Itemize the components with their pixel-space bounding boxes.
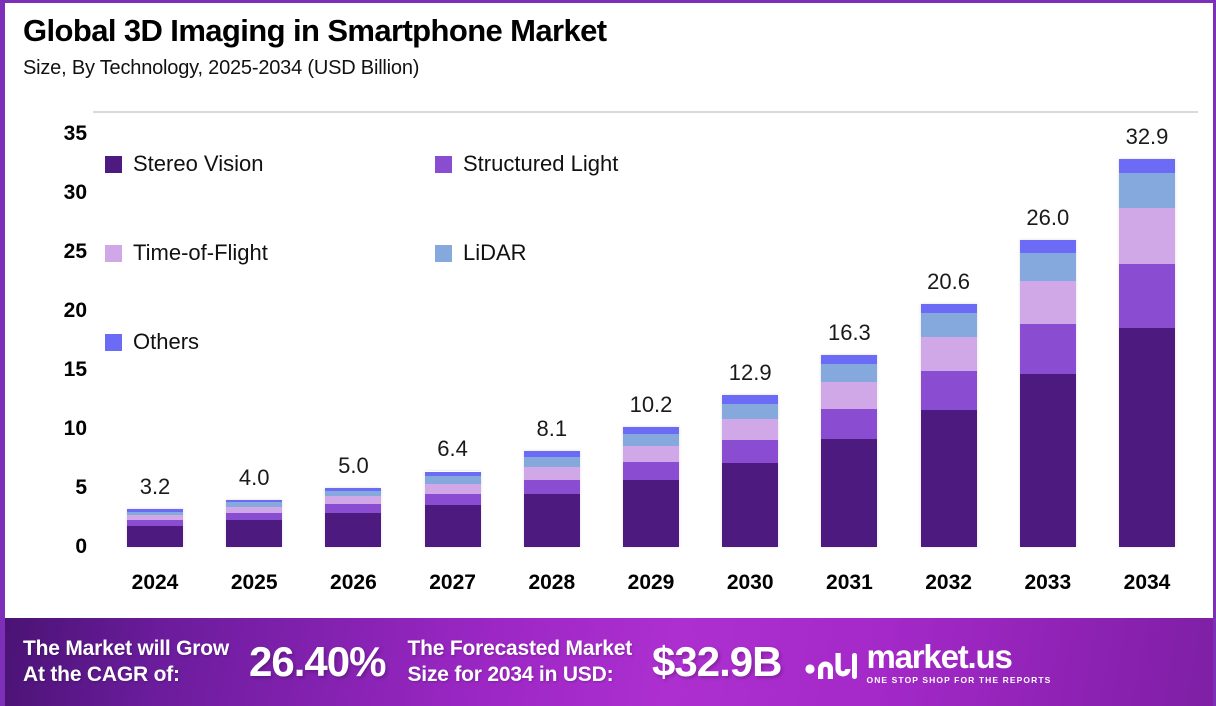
legend-label: LiDAR — [463, 240, 527, 266]
bar-segment-lidar[interactable] — [623, 434, 679, 446]
stacked-bar[interactable] — [1119, 159, 1175, 547]
infographic-page: Global 3D Imaging in Smartphone Market S… — [0, 0, 1216, 706]
bar-segment-structured-light[interactable] — [921, 371, 977, 410]
bar-segment-others[interactable] — [821, 355, 877, 364]
legend-label: Time-of-Flight — [133, 240, 268, 266]
chart-legend: Stereo VisionStructured LightTime-of-Fli… — [105, 151, 705, 418]
bar-segment-time-of-flight[interactable] — [1119, 208, 1175, 263]
legend-swatch-icon — [105, 156, 122, 173]
bar-segment-lidar[interactable] — [821, 364, 877, 383]
legend-swatch-icon — [435, 245, 452, 262]
bar-segment-time-of-flight[interactable] — [325, 496, 381, 504]
bar-total-label: 8.1 — [492, 416, 612, 442]
cagr-caption-line2: At the CAGR of: — [23, 662, 229, 688]
market-us-logo-icon — [805, 643, 857, 681]
bar-segment-others[interactable] — [921, 304, 977, 313]
bar-segment-stereo-vision[interactable] — [524, 494, 580, 547]
legend-swatch-icon — [105, 334, 122, 351]
chart-subtitle: Size, By Technology, 2025-2034 (USD Bill… — [23, 57, 1123, 80]
stacked-bar[interactable] — [226, 500, 282, 547]
footer-banner: The Market will Grow At the CAGR of: 26.… — [5, 618, 1216, 706]
bar-segment-structured-light[interactable] — [1020, 324, 1076, 374]
bar-segment-lidar[interactable] — [722, 404, 778, 419]
legend-label: Stereo Vision — [133, 151, 263, 177]
legend-label: Structured Light — [463, 151, 618, 177]
chart-header: Global 3D Imaging in Smartphone Market S… — [23, 13, 1123, 80]
forecast-caption: The Forecasted Market Size for 2034 in U… — [408, 636, 633, 688]
bar-segment-others[interactable] — [623, 427, 679, 434]
bar-segment-stereo-vision[interactable] — [127, 526, 183, 547]
bar-segment-structured-light[interactable] — [1119, 264, 1175, 328]
bar-segment-stereo-vision[interactable] — [226, 520, 282, 547]
legend-label: Others — [133, 329, 199, 355]
stacked-bar[interactable] — [1020, 240, 1076, 547]
bar-segment-stereo-vision[interactable] — [821, 439, 877, 547]
legend-item-structured-light[interactable]: Structured Light — [435, 151, 705, 240]
bar-segment-time-of-flight[interactable] — [425, 484, 481, 494]
bar-segment-stereo-vision[interactable] — [722, 463, 778, 547]
brand-logo[interactable]: market.us ONE STOP SHOP FOR THE REPORTS — [805, 640, 1051, 685]
cagr-value: 26.40% — [249, 638, 385, 686]
bar-segment-structured-light[interactable] — [325, 504, 381, 513]
bar-total-label: 26.0 — [988, 205, 1108, 231]
cagr-caption-line1: The Market will Grow — [23, 636, 229, 662]
bar-group-2034: 32.92034 — [1119, 94, 1175, 547]
bar-segment-time-of-flight[interactable] — [821, 382, 877, 409]
legend-swatch-icon — [105, 245, 122, 262]
bar-segment-structured-light[interactable] — [821, 409, 877, 439]
bar-segment-lidar[interactable] — [921, 313, 977, 337]
stacked-bar[interactable] — [623, 427, 679, 547]
bar-segment-structured-light[interactable] — [524, 480, 580, 494]
brand-name: market.us — [866, 640, 1051, 673]
x-axis-tick-2034: 2034 — [1087, 571, 1207, 595]
bar-segment-time-of-flight[interactable] — [623, 446, 679, 462]
bar-segment-others[interactable] — [1119, 159, 1175, 173]
legend-item-others[interactable]: Others — [105, 329, 435, 418]
bar-segment-stereo-vision[interactable] — [1020, 374, 1076, 547]
legend-item-time-of-flight[interactable]: Time-of-Flight — [105, 240, 435, 329]
bar-total-label: 20.6 — [889, 269, 1009, 295]
stacked-bar[interactable] — [722, 395, 778, 547]
bar-segment-lidar[interactable] — [1119, 173, 1175, 208]
bar-segment-time-of-flight[interactable] — [524, 467, 580, 480]
bar-group-2033: 26.02033 — [1020, 94, 1076, 547]
stacked-bar[interactable] — [524, 451, 580, 547]
brand-tagline: ONE STOP SHOP FOR THE REPORTS — [866, 675, 1051, 685]
bar-segment-stereo-vision[interactable] — [1119, 328, 1175, 547]
legend-swatch-icon — [435, 156, 452, 173]
bar-segment-stereo-vision[interactable] — [623, 480, 679, 547]
brand-text-block: market.us ONE STOP SHOP FOR THE REPORTS — [866, 640, 1051, 685]
bar-total-label: 12.9 — [690, 360, 810, 386]
bar-segment-structured-light[interactable] — [226, 513, 282, 521]
stacked-bar[interactable] — [821, 355, 877, 547]
bar-group-2030: 12.92030 — [722, 94, 778, 547]
bar-total-label: 32.9 — [1087, 124, 1207, 150]
stacked-bar[interactable] — [325, 488, 381, 547]
bar-segment-structured-light[interactable] — [425, 494, 481, 505]
bar-segment-structured-light[interactable] — [623, 462, 679, 480]
bar-segment-lidar[interactable] — [425, 476, 481, 484]
forecast-caption-line1: The Forecasted Market — [408, 636, 633, 662]
legend-item-lidar[interactable]: LiDAR — [435, 240, 705, 329]
page-title: Global 3D Imaging in Smartphone Market — [23, 13, 1123, 49]
bar-segment-time-of-flight[interactable] — [1020, 281, 1076, 324]
bar-segment-time-of-flight[interactable] — [921, 337, 977, 371]
stacked-bar[interactable] — [425, 471, 481, 547]
bar-segment-stereo-vision[interactable] — [425, 505, 481, 547]
bar-segment-lidar[interactable] — [1020, 253, 1076, 281]
bar-group-2032: 20.62032 — [921, 94, 977, 547]
bar-segment-others[interactable] — [1020, 240, 1076, 252]
stacked-bar[interactable] — [921, 304, 977, 547]
legend-item-stereo-vision[interactable]: Stereo Vision — [105, 151, 435, 240]
bar-segment-structured-light[interactable] — [722, 440, 778, 464]
stacked-bar[interactable] — [127, 509, 183, 547]
bar-total-label: 16.3 — [789, 320, 909, 346]
bar-segment-stereo-vision[interactable] — [921, 410, 977, 547]
forecast-caption-line2: Size for 2034 in USD: — [408, 662, 633, 688]
bar-segment-others[interactable] — [722, 395, 778, 404]
bar-group-2031: 16.32031 — [821, 94, 877, 547]
forecast-value: $32.9B — [652, 638, 781, 686]
cagr-caption: The Market will Grow At the CAGR of: — [23, 636, 229, 688]
bar-segment-time-of-flight[interactable] — [722, 419, 778, 440]
bar-segment-stereo-vision[interactable] — [325, 513, 381, 547]
bar-segment-lidar[interactable] — [524, 457, 580, 467]
